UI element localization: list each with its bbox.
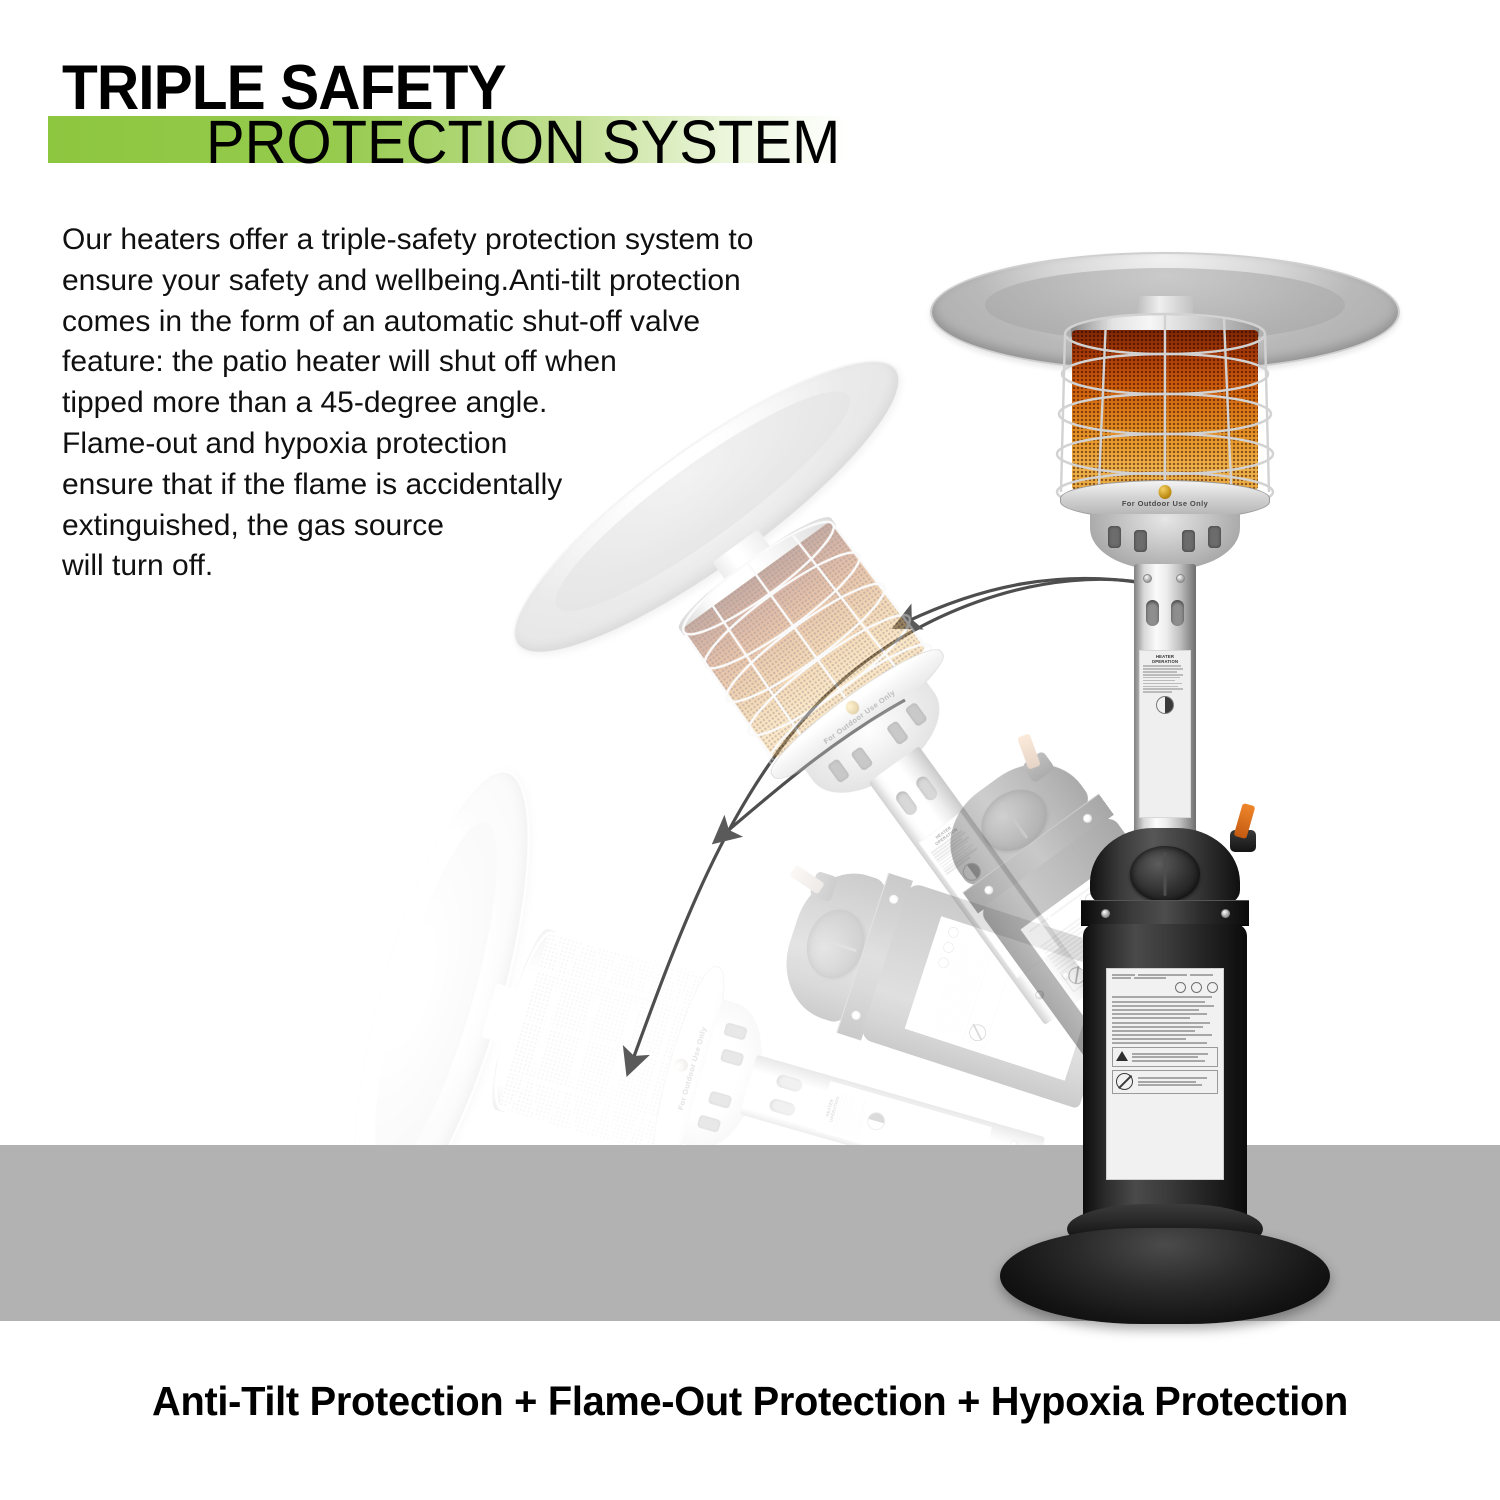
- tank-warning-label: [1106, 968, 1224, 1180]
- control-knob[interactable]: [1130, 846, 1200, 902]
- page-title-line2: PROTECTION SYSTEM: [206, 112, 924, 173]
- footer-caption: Anti-Tilt Protection + Flame-Out Protect…: [23, 1378, 1478, 1425]
- brand-logo-icon: [1159, 485, 1172, 499]
- warning-triangle-icon: [1116, 1051, 1128, 1061]
- venturi-housing: [1090, 514, 1240, 570]
- base-foot: [1000, 1228, 1330, 1324]
- header-block: TRIPLE SAFETY PROTECTION SYSTEM: [62, 60, 962, 173]
- description-paragraph: Our heaters offer a triple-safety protec…: [62, 220, 782, 587]
- igniter-lever[interactable]: [789, 865, 824, 895]
- tank-band: [1081, 900, 1249, 926]
- heater-upright-main: For Outdoor Use Only HEATER OPERATION: [955, 252, 1375, 1302]
- no-smoking-icon: [1116, 1073, 1133, 1090]
- heater-post: HEATER OPERATION: [1134, 564, 1196, 852]
- outdoor-use-text: For Outdoor Use Only: [1122, 499, 1208, 508]
- burner-mesh: [1072, 330, 1258, 490]
- tank-body: [1083, 924, 1247, 1224]
- post-label-title: HEATER OPERATION: [1143, 654, 1187, 664]
- infographic-canvas: For Outdoor Use Only HEATER OPERATION: [0, 0, 1500, 1500]
- post-instruction-label: HEATER OPERATION: [1139, 650, 1191, 818]
